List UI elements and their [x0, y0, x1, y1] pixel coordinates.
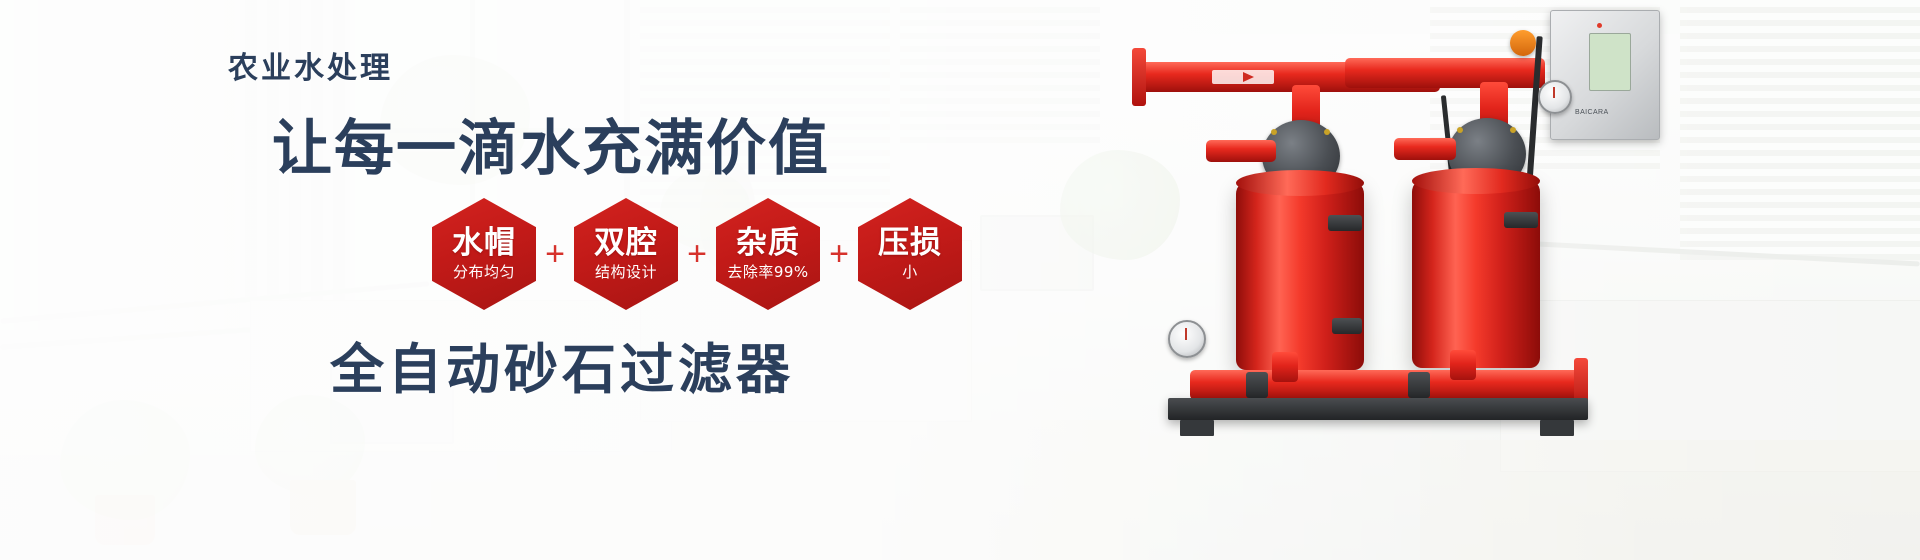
flow-direction-arrow	[1212, 70, 1274, 84]
product-image-sand-filter: BAICARA	[1150, 0, 1710, 560]
headline-text: 让每一滴水充满价值	[272, 100, 830, 187]
drop-pipe-right	[1450, 350, 1476, 380]
valve-bolt	[1324, 129, 1330, 135]
feature-caption: 小	[902, 264, 918, 281]
controller-screen	[1589, 33, 1631, 91]
tank-clamp	[1328, 215, 1362, 231]
hex-badge-shape[interactable]: 水帽 分布均匀	[432, 198, 536, 310]
feature-title: 水帽	[452, 227, 516, 260]
gauge-needle	[1185, 328, 1187, 340]
hex-badge-shape[interactable]: 压损 小	[858, 198, 962, 310]
product-name-text: 全自动砂石过滤器	[330, 325, 794, 404]
plus-separator-icon: +	[536, 237, 574, 271]
eyebrow-text: 农业水处理	[228, 43, 393, 87]
feature-title: 杂质	[736, 227, 800, 260]
feature-title: 双腔	[594, 227, 658, 260]
pipe-flange	[1132, 48, 1146, 106]
feature-badge-1[interactable]: 水帽 分布均匀	[432, 198, 536, 310]
valve-bolt	[1457, 127, 1463, 133]
pipe-clamp	[1246, 372, 1268, 398]
plus-separator-icon: +	[678, 237, 716, 271]
filter-tank-right	[1412, 178, 1540, 368]
manifold-top	[1345, 58, 1545, 88]
gauge-needle	[1553, 87, 1555, 98]
drop-pipe-left	[1272, 352, 1298, 382]
feature-badge-3[interactable]: 杂质 去除率99%	[716, 198, 820, 310]
spur-pipe-left	[1206, 140, 1276, 162]
filter-tank-right-dome	[1412, 168, 1540, 194]
skid-foot	[1540, 420, 1574, 436]
feature-title: 压损	[878, 227, 942, 260]
feature-badge-4[interactable]: 压损 小	[858, 198, 962, 310]
promo-banner: BAICARA	[0, 0, 1920, 560]
relief-valve-knob	[1510, 30, 1536, 56]
filter-tank-left-dome	[1236, 170, 1364, 196]
spur-pipe-right	[1394, 138, 1456, 160]
controller-enclosure: BAICARA	[1550, 10, 1660, 140]
skid-base	[1168, 398, 1588, 420]
tank-clamp	[1504, 212, 1538, 228]
feature-caption: 分布均匀	[453, 264, 515, 281]
hex-badge-shape[interactable]: 双腔 结构设计	[574, 198, 678, 310]
controller-led	[1597, 23, 1602, 28]
hex-badge-shape[interactable]: 杂质 去除率99%	[716, 198, 820, 310]
valve-bolt	[1510, 127, 1516, 133]
tank-clamp	[1332, 318, 1362, 334]
plus-separator-icon: +	[820, 237, 858, 271]
feature-badge-2[interactable]: 双腔 结构设计	[574, 198, 678, 310]
valve-bolt	[1271, 129, 1277, 135]
filter-tank-left	[1236, 180, 1364, 370]
skid-foot	[1180, 420, 1214, 436]
pressure-gauge-top	[1538, 80, 1572, 114]
controller-brand-label: BAICARA	[1575, 109, 1609, 116]
feature-badge-row: 水帽 分布均匀 + 双腔 结构设计 + 杂质 去除率99% + 压损 小	[432, 198, 962, 310]
pipe-clamp	[1408, 372, 1430, 398]
pressure-gauge-bottom	[1168, 320, 1206, 358]
feature-caption: 结构设计	[595, 264, 657, 281]
feature-caption: 去除率99%	[727, 264, 808, 281]
